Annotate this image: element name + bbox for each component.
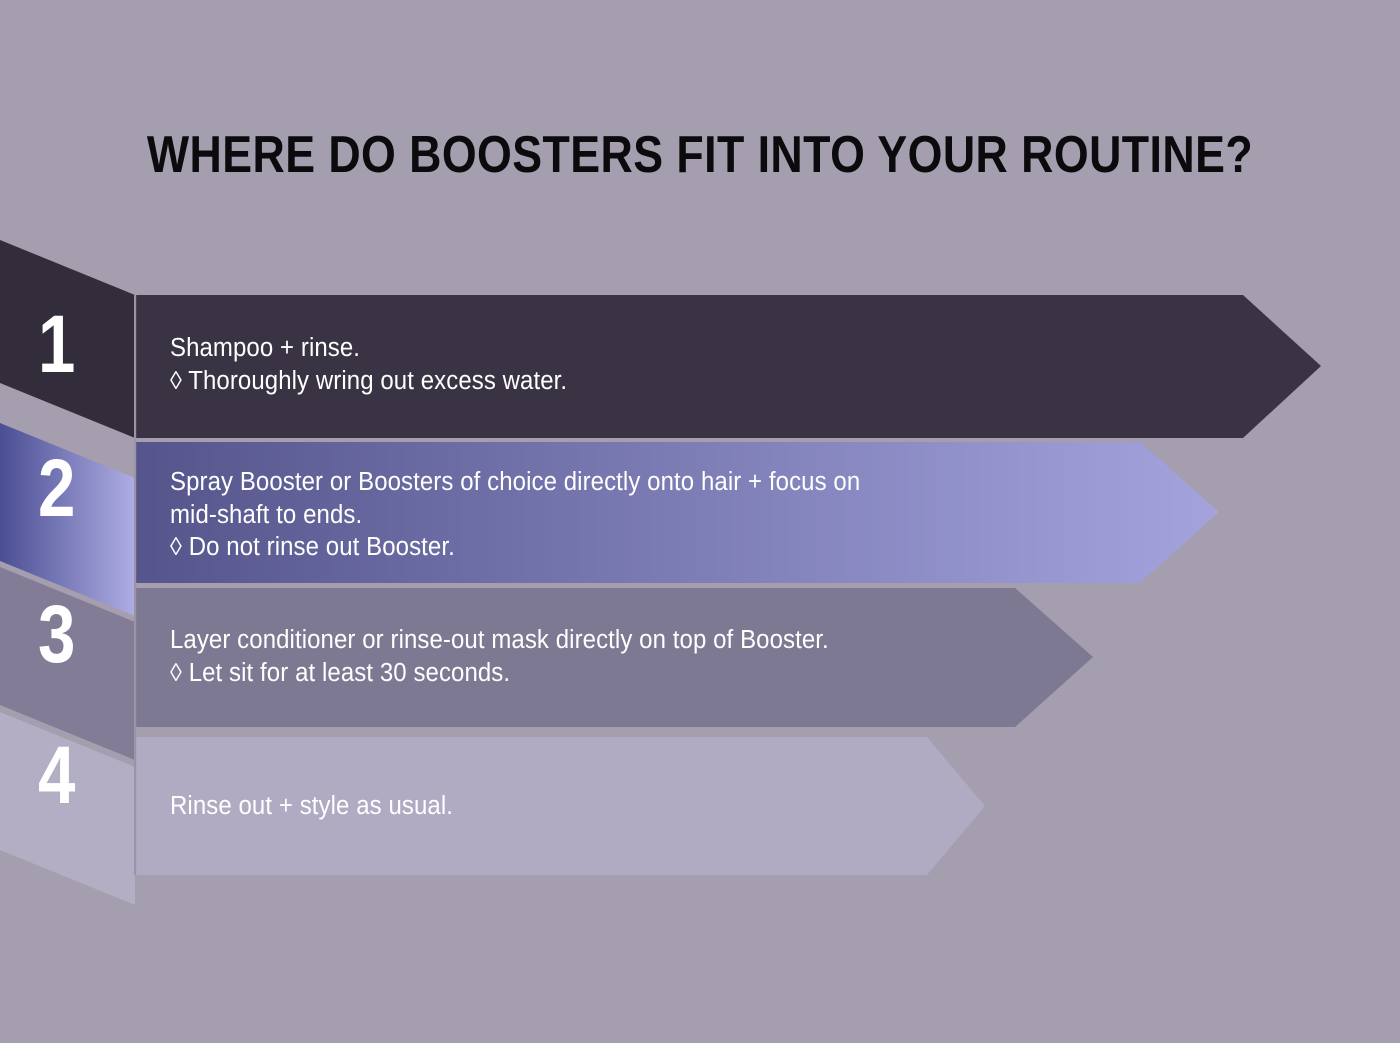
step-number-3: 3 [38, 594, 75, 676]
infographic-canvas: WHERE DO BOOSTERS FIT INTO YOUR ROUTINE? [0, 0, 1400, 1043]
step-number-2: 2 [38, 448, 75, 530]
step-text-3: Layer conditioner or rinse-out mask dire… [170, 624, 1072, 689]
step-text-2: Spray Booster or Boosters of choice dire… [170, 466, 1110, 564]
vertical-divider [134, 295, 136, 875]
step-number-1: 1 [38, 304, 75, 386]
step-number-4: 4 [38, 735, 75, 817]
step-text-4: Rinse out + style as usual. [170, 790, 978, 823]
step-text-1: Shampoo + rinse. ◊ Thoroughly wring out … [170, 332, 1166, 397]
